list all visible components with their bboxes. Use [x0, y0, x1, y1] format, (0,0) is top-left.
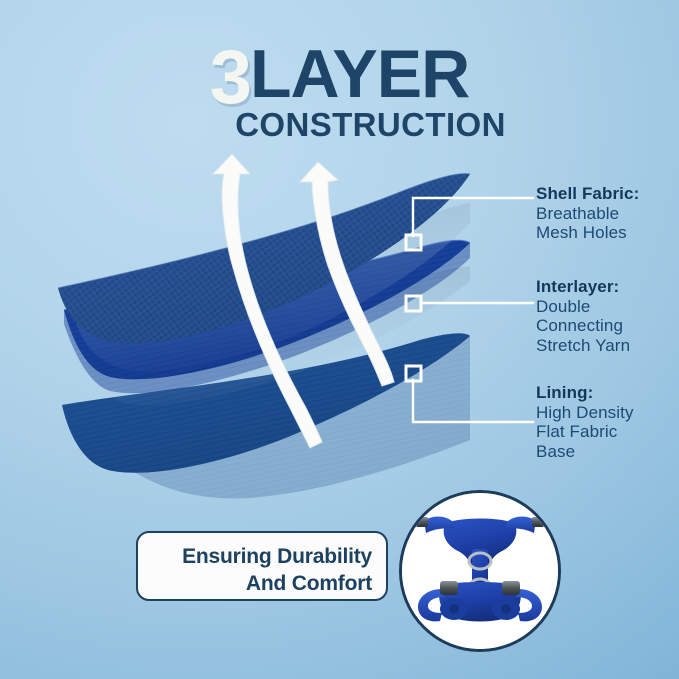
callout-line-1: Double — [536, 297, 630, 317]
callout-heading: Lining: — [536, 383, 634, 403]
title-block: 3LAYER CONSTRUCTION — [0, 34, 679, 134]
callout-line-3: Stretch Yarn — [536, 336, 630, 356]
infographic-canvas: 3LAYER CONSTRUCTION — [0, 0, 679, 679]
callout-line-2: Mesh Holes — [536, 223, 639, 243]
callout-line-1: High Density — [536, 403, 634, 423]
callout-heading: Interlayer: — [536, 277, 630, 297]
callout-heading: Shell Fabric: — [536, 184, 639, 204]
callout-line-3: Base — [536, 442, 634, 462]
callout-line-2: Connecting — [536, 316, 630, 336]
callout-lining: Lining: High Density Flat Fabric Base — [536, 383, 634, 462]
tagline-text: Ensuring Durability And Comfort — [182, 544, 372, 598]
callout-line-1: Breathable — [536, 204, 639, 224]
tagline-banner: Ensuring Durability And Comfort — [136, 531, 388, 601]
callout-interlayer: Interlayer: Double Connecting Stretch Ya… — [536, 277, 630, 356]
title-word: LAYER — [250, 36, 469, 112]
callout-shell-fabric: Shell Fabric: Breathable Mesh Holes — [536, 184, 639, 243]
blue-dog-harness-illustration — [402, 493, 558, 649]
layer-illustration — [0, 140, 470, 500]
product-photo-circle — [399, 490, 561, 652]
title-subtitle: CONSTRUCTION — [0, 106, 679, 144]
callout-line-2: Flat Fabric — [536, 422, 634, 442]
